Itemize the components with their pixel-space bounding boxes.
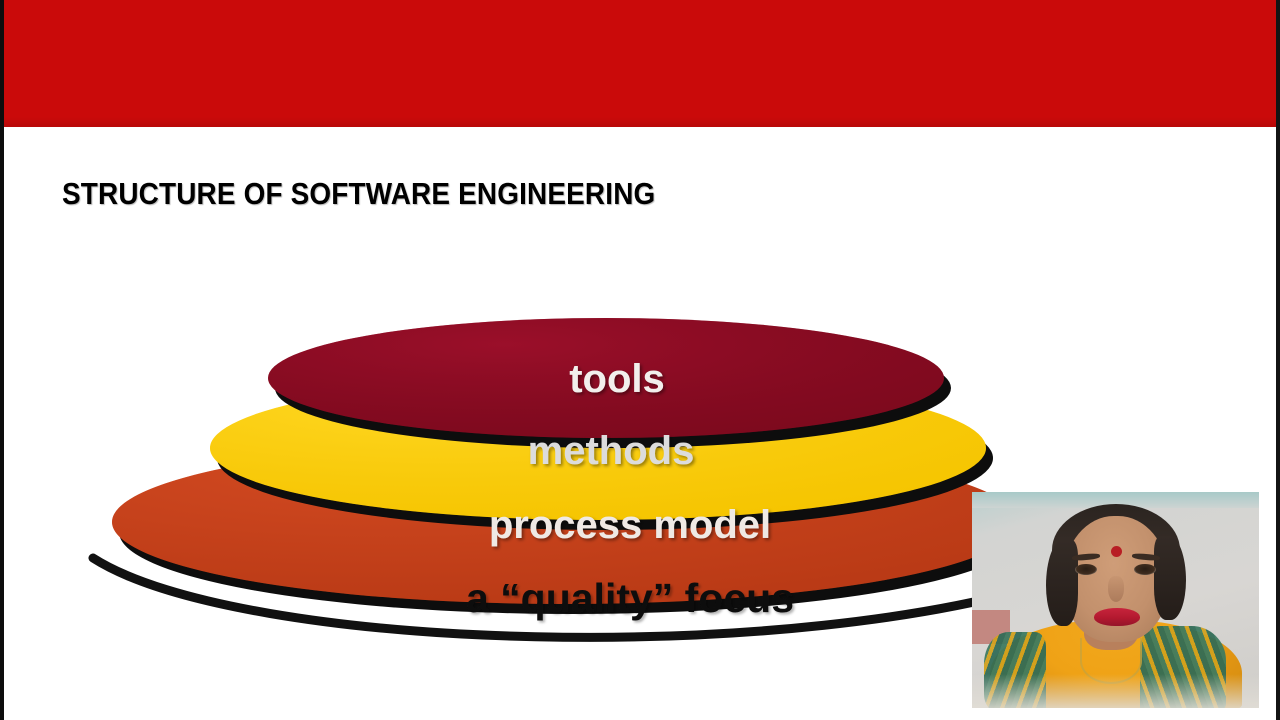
webcam-bottom-blur <box>972 674 1259 708</box>
layer-label-process-model: process model <box>489 503 771 547</box>
layer-label-tools: tools <box>569 357 665 401</box>
slide-right-border <box>1276 0 1280 720</box>
presentation-slide: SOFTWARE ENGINEERING STRUCTURE OF SOFTWA… <box>0 0 1280 720</box>
presenter-webcam-overlay[interactable] <box>972 492 1259 708</box>
presenter-hair-left <box>1046 540 1078 626</box>
presenter-nose <box>1108 576 1124 602</box>
title-banner <box>0 0 1280 127</box>
section-heading: STRUCTURE OF SOFTWARE ENGINEERING <box>62 176 655 212</box>
presenter-bindi <box>1111 546 1122 557</box>
layer-label-quality-focus: a “quality” focus <box>466 575 794 621</box>
presenter-hair-right <box>1154 536 1186 620</box>
layer-label-methods: methods <box>528 429 695 473</box>
banner-shading <box>0 117 1280 127</box>
presenter-eye-right <box>1134 564 1156 575</box>
software-engineering-layers-diagram: tools methods process model a “quality” … <box>60 300 1120 660</box>
presenter-eye-left <box>1075 564 1097 575</box>
slide-left-border <box>0 0 4 720</box>
presenter-lips <box>1094 608 1140 626</box>
